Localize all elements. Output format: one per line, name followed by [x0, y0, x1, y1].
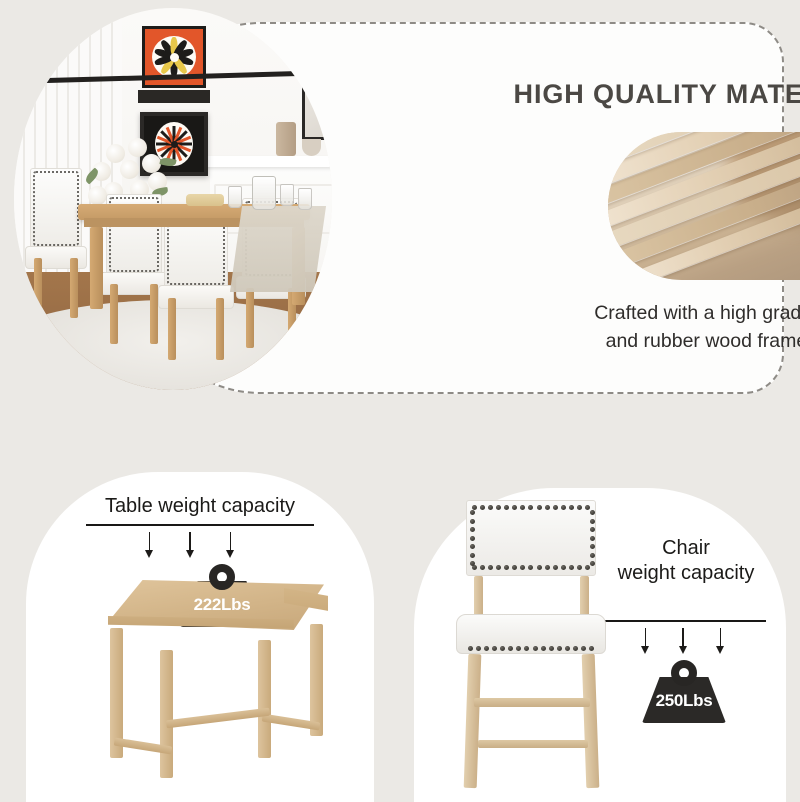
- down-arrow-icon: [715, 628, 726, 654]
- rose-bloom: [120, 160, 139, 179]
- table-load-arrows: [144, 532, 236, 558]
- down-arrow-icon: [640, 628, 651, 654]
- nailhead-stud: [577, 505, 582, 510]
- nailhead-stud: [561, 505, 566, 510]
- infographic-canvas: HIGH QUALITY MATERIAL Crafted with a hig…: [0, 0, 800, 800]
- nailhead-stud: [537, 565, 542, 570]
- nailhead-stud: [468, 646, 473, 651]
- room-photo: [14, 8, 332, 390]
- photo-chair-leg: [216, 298, 224, 360]
- nailhead-stud: [504, 505, 509, 510]
- chair-footrest-rail: [474, 698, 590, 707]
- chair-back-post: [474, 576, 483, 616]
- nailhead-stud: [470, 553, 475, 558]
- nailhead-stud: [590, 553, 595, 558]
- nailhead-stud: [577, 565, 582, 570]
- nailhead-stud: [512, 565, 517, 570]
- chair-capacity-label: Chair weight capacity: [586, 536, 786, 586]
- rose-bloom: [128, 138, 147, 157]
- down-arrow-icon: [185, 532, 196, 558]
- nailhead-stud: [528, 505, 533, 510]
- photo-table-leg: [90, 227, 103, 309]
- chair-label-line-1: Chair: [662, 537, 710, 559]
- nailhead-stud: [549, 646, 554, 651]
- table-center-stretcher: [166, 708, 270, 729]
- chair-back-post: [580, 576, 589, 616]
- nailhead-stud: [524, 646, 529, 651]
- decor-vase: [276, 122, 296, 156]
- table-leg: [160, 650, 173, 778]
- table-capacity-label: Table weight capacity: [26, 494, 374, 519]
- table-runner: [230, 206, 326, 292]
- nailhead-trim: [33, 171, 79, 246]
- chair-load-arrows: [640, 628, 726, 654]
- nailhead-stud: [504, 565, 509, 570]
- nailhead-stud: [500, 646, 505, 651]
- table-capacity-underline: [86, 524, 314, 526]
- nailhead-stud: [590, 510, 595, 515]
- down-arrow-icon: [678, 628, 689, 654]
- nailhead-stud: [545, 505, 550, 510]
- pinwheel-hub: [170, 53, 179, 62]
- nailhead-stud: [488, 505, 493, 510]
- chair-front-leg: [582, 654, 600, 788]
- nailhead-stud: [488, 565, 493, 570]
- nailhead-stud: [590, 519, 595, 524]
- caption-line-1: Crafted with a high grade MDF: [594, 302, 800, 324]
- nailhead-stud: [537, 505, 542, 510]
- artwork-shadow-band: [138, 90, 210, 103]
- nailhead-stud: [557, 646, 562, 651]
- nailhead-stud: [470, 561, 475, 566]
- nailhead-stud: [520, 505, 525, 510]
- nailhead-stud: [496, 505, 501, 510]
- mantel-shelf: [200, 156, 332, 167]
- nailhead-stud: [590, 544, 595, 549]
- nailhead-stud: [516, 646, 521, 651]
- nailhead-stud: [590, 536, 595, 541]
- chair-weight-value: 250Lbs: [642, 691, 726, 711]
- chair-capacity-underline: [600, 620, 766, 622]
- photo-chair-leg: [70, 258, 78, 318]
- nailhead-stud: [561, 565, 566, 570]
- nailhead-stud: [520, 565, 525, 570]
- nailhead-stud: [545, 565, 550, 570]
- nailhead-stud: [590, 561, 595, 566]
- chair-illustration: [452, 500, 612, 790]
- photo-chair-back: [30, 168, 82, 249]
- nailhead-stud: [480, 505, 485, 510]
- photo-chair-leg: [34, 258, 42, 318]
- water-pitcher: [252, 176, 276, 210]
- drinking-glass: [228, 186, 242, 208]
- nailhead-stud: [533, 646, 538, 651]
- nailhead-stud: [480, 565, 485, 570]
- nailhead-stud: [565, 646, 570, 651]
- nailhead-stud: [476, 646, 481, 651]
- down-arrow-icon: [225, 532, 236, 558]
- chair-label-line-2: weight capacity: [618, 562, 755, 584]
- caption-line-2: and rubber wood framework: [606, 330, 800, 352]
- nailhead-stud: [581, 646, 586, 651]
- backrest-nailhead-row-top: [472, 505, 590, 510]
- nailhead-stud: [553, 565, 558, 570]
- nailhead-stud: [541, 646, 546, 651]
- chair-lower-rail: [478, 740, 588, 748]
- plate-stack: [186, 194, 224, 206]
- material-photo: [608, 132, 800, 280]
- table-leg: [310, 624, 323, 736]
- down-arrow-icon: [144, 532, 155, 558]
- photo-chair-leg: [110, 284, 118, 344]
- nailhead-stud: [590, 527, 595, 532]
- nailhead-stud: [573, 646, 578, 651]
- nailhead-stud: [470, 527, 475, 532]
- photo-chair-leg: [168, 298, 176, 360]
- nailhead-stud: [470, 510, 475, 515]
- table-leg: [258, 640, 271, 758]
- nailhead-stud: [508, 646, 513, 651]
- nailhead-stud: [470, 536, 475, 541]
- nailhead-stud: [553, 505, 558, 510]
- nailhead-stud: [492, 646, 497, 651]
- rose-bloom: [88, 186, 107, 205]
- nailhead-stud: [512, 505, 517, 510]
- panel-caption: Crafted with a high grade MDF and rubber…: [542, 300, 800, 355]
- rose-bloom: [142, 154, 161, 173]
- chair-weight-icon: 250Lbs: [642, 660, 726, 724]
- rose-bloom: [106, 144, 125, 163]
- photo-chair-leg: [246, 288, 254, 348]
- pinwheel-disc: [152, 36, 196, 78]
- photo-chair: [30, 168, 82, 318]
- nailhead-stud: [484, 646, 489, 651]
- nailhead-stud: [569, 565, 574, 570]
- nailhead-stud: [470, 519, 475, 524]
- backrest-nailhead-col-left: [470, 510, 475, 566]
- photo-chair: [164, 204, 228, 360]
- nailhead-stud: [589, 646, 594, 651]
- backrest-nailhead-row-bottom: [472, 565, 590, 570]
- backrest-nailhead-col-right: [590, 510, 595, 566]
- nailhead-stud: [528, 565, 533, 570]
- drinking-glass: [280, 184, 294, 206]
- chair-front-leg: [464, 654, 482, 788]
- weight-ring: [671, 660, 697, 686]
- seat-nailhead-row: [468, 646, 594, 651]
- panel-title: HIGH QUALITY MATERIAL: [472, 79, 800, 110]
- nailhead-stud: [569, 505, 574, 510]
- table-weight-value: 222Lbs: [180, 595, 264, 615]
- photo-chair-leg: [150, 284, 158, 344]
- nailhead-stud: [496, 565, 501, 570]
- nailhead-stud: [470, 544, 475, 549]
- weight-ring: [209, 564, 235, 590]
- room-scene: [14, 8, 332, 390]
- drinking-glass: [298, 188, 312, 210]
